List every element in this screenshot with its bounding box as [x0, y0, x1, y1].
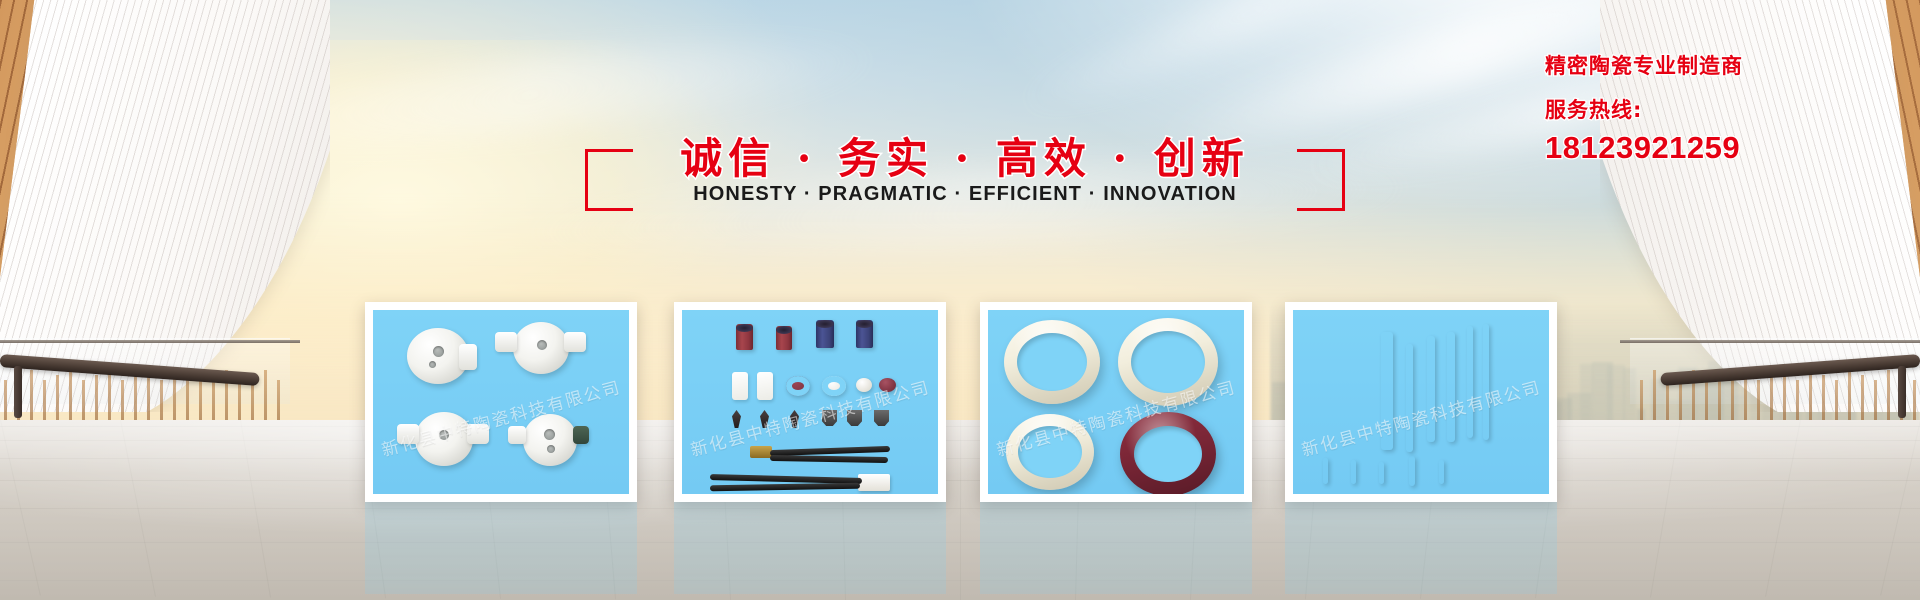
product-panel-lamp-holders[interactable]: 新化县中特陶瓷科技有限公司 — [365, 302, 637, 502]
panel-image-area: 新化县中特陶瓷科技有限公司 — [373, 310, 629, 494]
ceramic-plate — [732, 372, 748, 400]
ceramic-rod — [1406, 344, 1413, 452]
ceramic-ring-large — [1118, 318, 1218, 406]
ceramic-ring-white — [822, 376, 846, 396]
ceramic-rod — [1381, 332, 1393, 450]
ceramic-clip — [874, 410, 889, 426]
ceramic-rod — [1467, 326, 1473, 438]
panel-reflection — [1285, 502, 1557, 594]
ceramic-rod-short — [1409, 456, 1415, 486]
ceramic-plate — [757, 372, 773, 400]
panel-image-area: 新化县中特陶瓷科技有限公司 — [682, 310, 938, 494]
company-product-banner: 诚信 · 务实 · 高效 · 创新 HONESTY · PRAGMATIC · … — [0, 0, 1920, 600]
panel-reflection — [980, 502, 1252, 594]
panel-image-area: 新化县中特陶瓷科技有限公司 — [1293, 310, 1549, 494]
ceramic-rod-short — [1439, 460, 1444, 484]
product-panel-ceramic-rings[interactable]: 新化县中特陶瓷科技有限公司 — [980, 302, 1252, 502]
ceramic-rod — [1447, 332, 1455, 442]
ceramic-tube-red — [736, 324, 753, 350]
panel-reflection — [674, 502, 946, 594]
ceramic-contact — [790, 410, 799, 428]
ceramic-clip — [847, 410, 862, 426]
ceramic-ring-large — [1004, 320, 1100, 404]
ceramic-tube-red — [776, 326, 792, 350]
ceramic-rod-short — [1323, 458, 1328, 484]
product-panel-ceramic-tubes[interactable]: 新化县中特陶瓷科技有限公司 — [674, 302, 946, 502]
ceramic-ring-red — [786, 376, 810, 396]
ceramic-tube-blue — [816, 320, 834, 348]
wire-lead — [770, 455, 888, 463]
wire-lead — [710, 483, 860, 492]
ceramic-rod — [1483, 324, 1489, 440]
panel-reflection — [365, 502, 637, 594]
panel-watermark: 新化县中特陶瓷科技有限公司 — [378, 373, 623, 461]
ceramic-tube-blue — [856, 320, 873, 348]
ceramic-cap-white — [856, 378, 872, 392]
product-panel-row: 新化县中特陶瓷科技有限公司 — [0, 0, 1920, 600]
ceramic-cap-red — [879, 378, 896, 392]
wire-connector-white — [858, 474, 890, 491]
lamp-holder-part — [523, 414, 577, 466]
panel-image-area: 新化县中特陶瓷科技有限公司 — [988, 310, 1244, 494]
ceramic-rod-short — [1351, 460, 1356, 484]
lamp-holder-part — [407, 328, 469, 384]
lamp-holder-part — [513, 322, 569, 374]
panel-watermark: 新化县中特陶瓷科技有限公司 — [1298, 373, 1543, 461]
lamp-holder-part — [415, 412, 473, 466]
ceramic-clip — [822, 410, 837, 426]
product-panel-ceramic-rods[interactable]: 新化县中特陶瓷科技有限公司 — [1285, 302, 1557, 502]
wire-connector — [750, 446, 772, 458]
ceramic-rod-short — [1379, 462, 1384, 484]
ceramic-ring-maroon — [1120, 412, 1216, 494]
ceramic-rod — [1427, 336, 1435, 442]
ceramic-contact — [732, 410, 741, 428]
ceramic-ring-large — [1006, 414, 1094, 490]
ceramic-contact — [760, 410, 769, 428]
